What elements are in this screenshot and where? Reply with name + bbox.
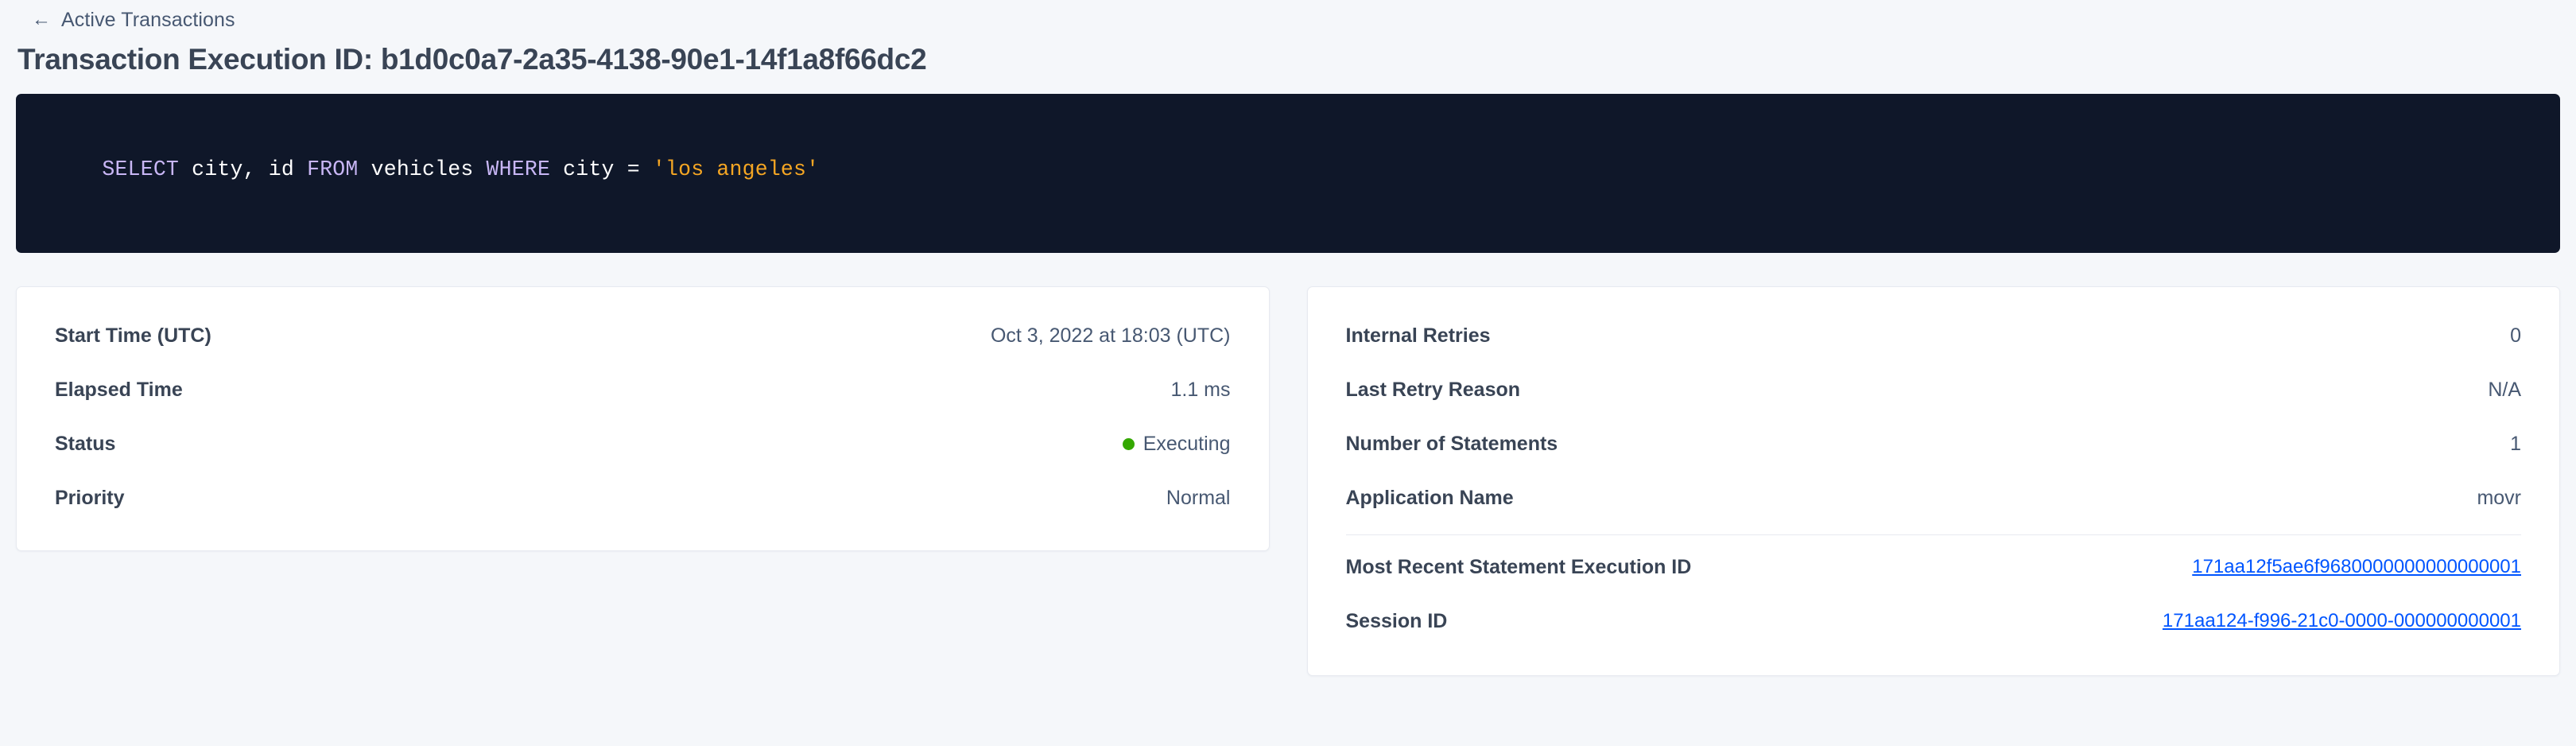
internal-retries-value: 0 <box>2510 324 2521 348</box>
table-row: Application Name movr <box>1346 471 2522 525</box>
table-row: Number of Statements 1 <box>1346 417 2522 471</box>
breadcrumb[interactable]: ← Active Transactions <box>16 0 2560 32</box>
statement-execution-id-link[interactable]: 171aa12f5ae6f9680000000000000001 <box>2192 556 2521 578</box>
table-row: Start Time (UTC) Oct 3, 2022 at 18:03 (U… <box>55 309 1231 363</box>
row-label: Internal Retries <box>1346 324 1491 348</box>
table-row: Priority Normal <box>55 471 1231 525</box>
number-of-statements-value: 1 <box>2510 433 2521 456</box>
sql-token-keyword: SELECT <box>102 157 179 181</box>
status-badge: Executing <box>1123 433 1231 456</box>
table-row: Elapsed Time 1.1 ms <box>55 363 1231 417</box>
row-label: Most Recent Statement Execution ID <box>1346 556 1692 579</box>
start-time-value: Oct 3, 2022 at 18:03 (UTC) <box>991 324 1231 348</box>
last-retry-reason-value: N/A <box>2488 379 2521 402</box>
row-label: Last Retry Reason <box>1346 379 1521 402</box>
details-cards: Start Time (UTC) Oct 3, 2022 at 18:03 (U… <box>16 286 2560 676</box>
row-label: Application Name <box>1346 487 1514 510</box>
table-row: Last Retry Reason N/A <box>1346 363 2522 417</box>
row-label: Elapsed Time <box>55 379 183 402</box>
priority-value: Normal <box>1166 487 1231 510</box>
transaction-overview-card: Start Time (UTC) Oct 3, 2022 at 18:03 (U… <box>16 286 1270 551</box>
table-row: Status Executing <box>55 417 1231 471</box>
sql-token-keyword: WHERE <box>487 157 551 181</box>
transaction-stats-card: Internal Retries 0 Last Retry Reason N/A… <box>1307 286 2561 676</box>
row-label: Status <box>55 433 115 456</box>
sql-token-keyword: FROM <box>307 157 358 181</box>
sql-statement: SELECT city, id FROM vehicles WHERE city… <box>102 157 819 181</box>
elapsed-time-value: 1.1 ms <box>1170 379 1230 402</box>
transaction-details-page: ← Active Transactions Transaction Execut… <box>0 0 2576 746</box>
sql-token-identifier: city <box>179 157 243 181</box>
breadcrumb-label[interactable]: Active Transactions <box>61 9 235 32</box>
status-dot-icon <box>1123 438 1135 450</box>
table-row: Most Recent Statement Execution ID 171aa… <box>1346 540 2522 594</box>
table-row: Session ID 171aa124-f996-21c0-0000-00000… <box>1346 594 2522 648</box>
sql-code-block: SELECT city, id FROM vehicles WHERE city… <box>16 94 2560 253</box>
row-label: Priority <box>55 487 125 510</box>
table-row: Internal Retries 0 <box>1346 309 2522 363</box>
card-divider <box>1346 534 2522 535</box>
sql-token-punct: , <box>243 157 256 181</box>
sql-token-identifier: city <box>550 157 627 181</box>
sql-token-identifier: id <box>256 157 307 181</box>
row-label: Start Time (UTC) <box>55 324 211 348</box>
application-name-value: movr <box>2477 487 2521 510</box>
sql-token-identifier: vehicles <box>359 157 487 181</box>
sql-token-operator: = <box>627 157 640 181</box>
session-id-link[interactable]: 171aa124-f996-21c0-0000-000000000001 <box>2163 610 2521 632</box>
page-title: Transaction Execution ID: b1d0c0a7-2a35-… <box>16 32 2560 76</box>
status-value: Executing <box>1143 433 1231 456</box>
sql-token-string: 'los angeles' <box>640 157 819 181</box>
row-label: Number of Statements <box>1346 433 1558 456</box>
arrow-left-icon[interactable]: ← <box>32 10 51 29</box>
row-label: Session ID <box>1346 610 1448 633</box>
